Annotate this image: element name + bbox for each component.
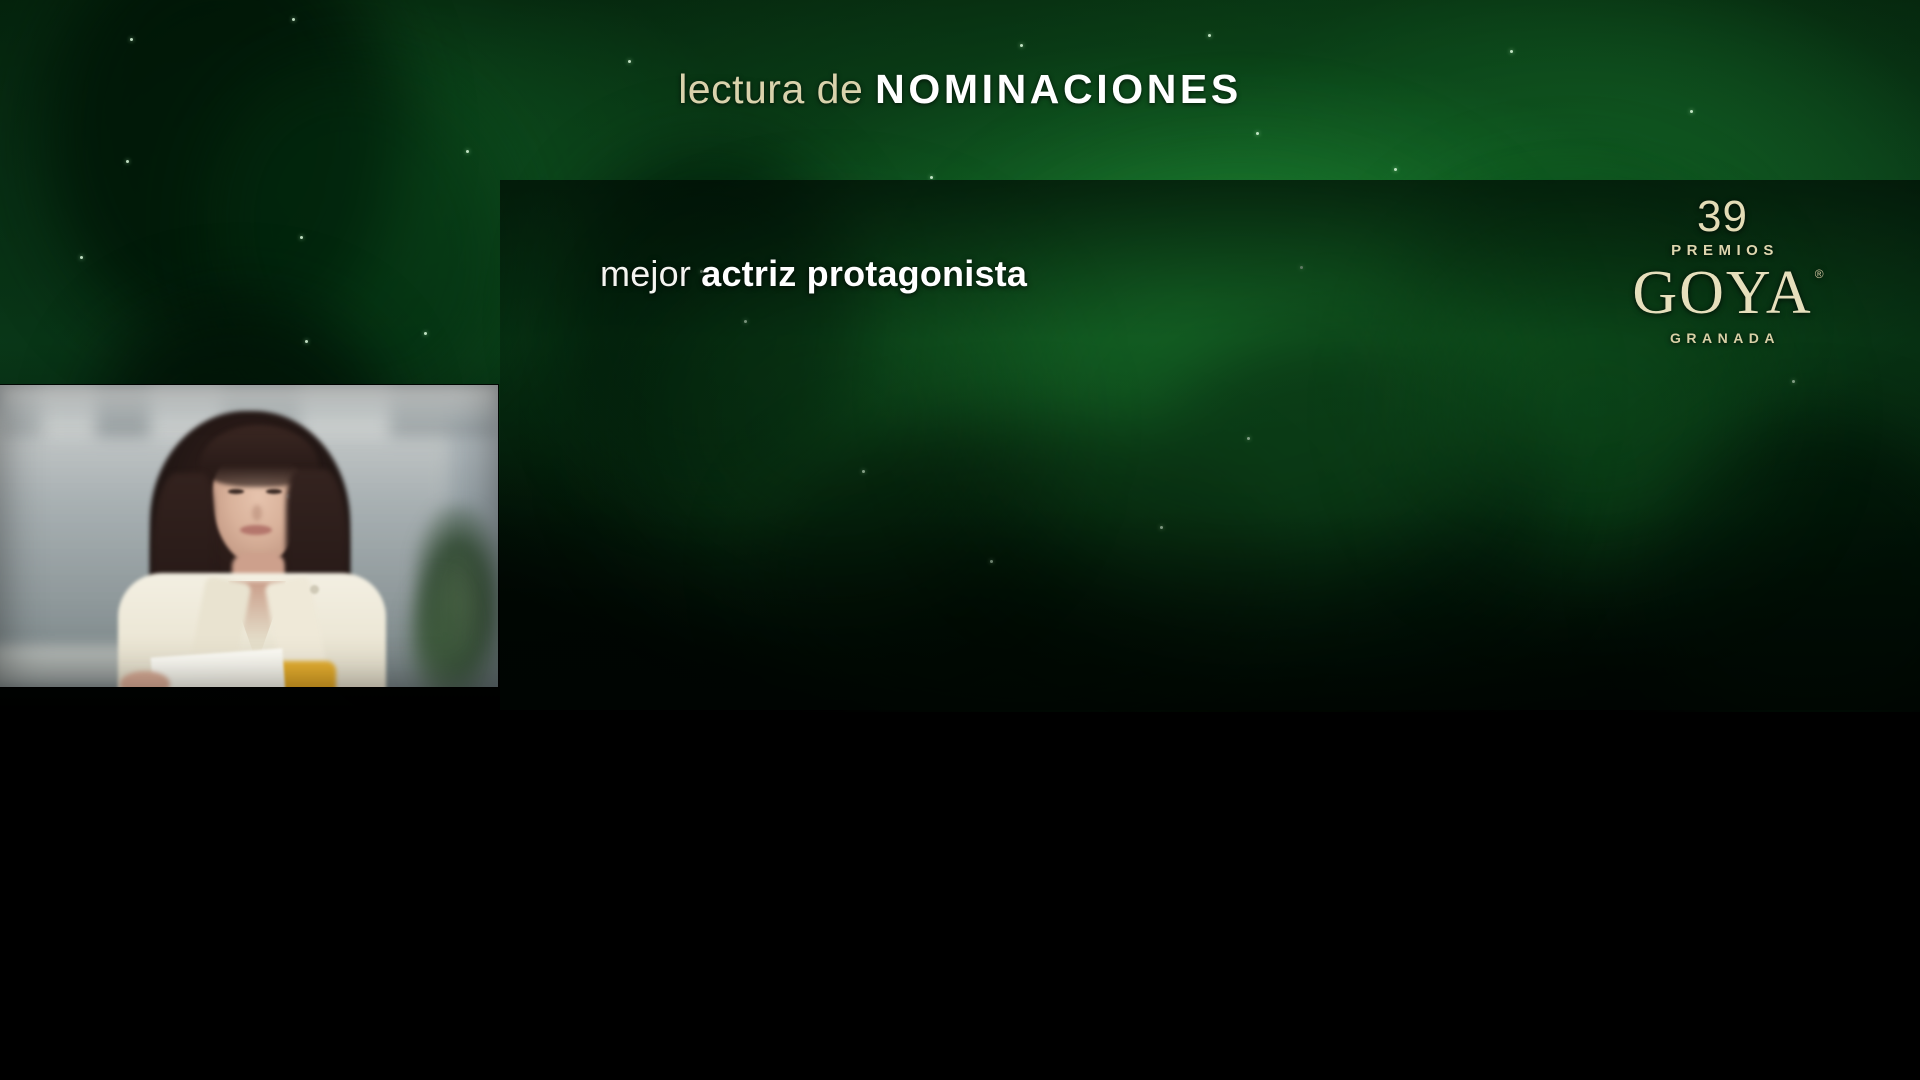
registered-trademark-icon: ® bbox=[1815, 268, 1826, 280]
award-category-name: actriz protagonista bbox=[701, 253, 1027, 294]
logo-city: GRANADA bbox=[1620, 331, 1825, 345]
presenter-eye bbox=[228, 489, 244, 494]
broadcast-frame: lectura de NOMINACIONES mejor actriz pro… bbox=[0, 0, 1920, 712]
logo-brand-text: GOYA bbox=[1632, 259, 1812, 327]
presenter-nose bbox=[252, 505, 262, 521]
award-category-prefix: mejor bbox=[600, 253, 701, 294]
presenter-lips bbox=[240, 525, 272, 535]
section-title-emphasis: NOMINACIONES bbox=[875, 66, 1242, 112]
section-title-prefix: lectura de bbox=[678, 66, 875, 112]
presenter-eye bbox=[266, 489, 282, 494]
letterbox-bottom bbox=[0, 712, 1920, 1080]
presenter-video-inset bbox=[0, 385, 498, 687]
screen: lectura de NOMINACIONES mejor actriz pro… bbox=[0, 0, 1920, 1080]
logo-premios-word: PREMIOS bbox=[1620, 243, 1825, 258]
inset-tree bbox=[404, 573, 474, 687]
logo-edition-number: 39 bbox=[1620, 195, 1825, 239]
logo-brand-wordmark: GOYA® bbox=[1632, 262, 1812, 324]
section-title: lectura de NOMINACIONES bbox=[0, 66, 1920, 113]
presenter-lapel-pin bbox=[310, 585, 319, 594]
goya-awards-logo: 39 PREMIOS GOYA® GRANADA bbox=[1620, 195, 1825, 345]
award-category: mejor actriz protagonista bbox=[600, 253, 1027, 295]
